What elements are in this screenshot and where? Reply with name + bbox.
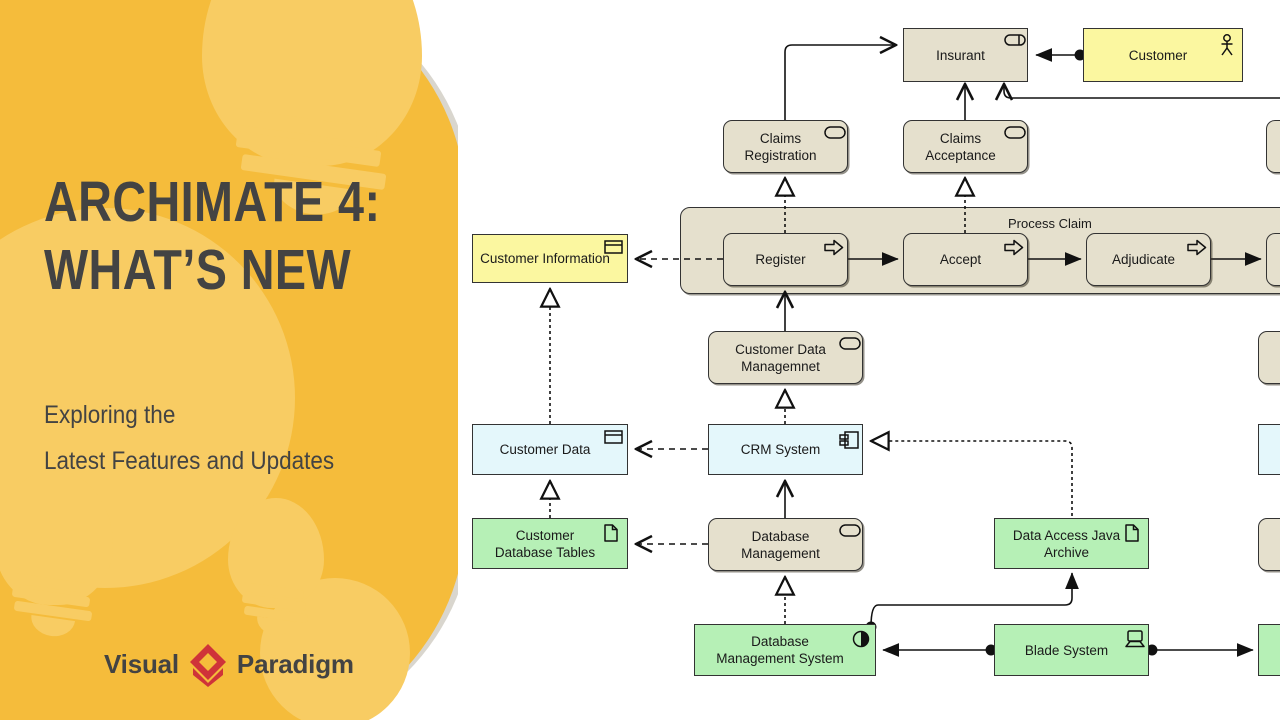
- node-icon: [852, 630, 870, 643]
- application-service-icon: [839, 337, 857, 350]
- node-label: Insurant: [936, 47, 985, 64]
- node-label: Customer Data Managemnet: [735, 341, 826, 375]
- cover-panel: ARCHIMATE 4: WHAT’S NEW Exploring the La…: [0, 0, 478, 720]
- slide-canvas: ARCHIMATE 4: WHAT’S NEW Exploring the La…: [0, 0, 1280, 720]
- diagram-node-customer[interactable]: Customer: [1083, 28, 1243, 82]
- diagram-node-clipped-proc[interactable]: [1266, 233, 1280, 286]
- business-actor-icon: [1219, 34, 1237, 47]
- logo-word-visual: Visual: [104, 649, 179, 680]
- archimate-diagram: Process Claim: [458, 0, 1280, 720]
- business-role-icon: [1004, 34, 1022, 47]
- diagram-node-cust-db-tables[interactable]: Customer Database Tables: [472, 518, 628, 569]
- node-label: Accept: [940, 251, 981, 268]
- cover-subtitle: Exploring the Latest Features and Update…: [44, 392, 422, 484]
- node-label: Blade System: [1025, 642, 1108, 659]
- diagram-node-claims-reg[interactable]: Claims Registration: [723, 120, 848, 173]
- relationship-layer: [458, 0, 1280, 720]
- technology-service-icon: [839, 524, 857, 537]
- business-process-icon: [1187, 239, 1205, 252]
- node-label: Customer Data: [500, 441, 591, 458]
- title-line-1: ARCHIMATE 4:: [44, 168, 372, 236]
- business-service-icon: [1004, 126, 1022, 139]
- diagram-node-crm-system[interactable]: CRM System: [708, 424, 863, 475]
- diagram-node-accept[interactable]: Accept: [903, 233, 1028, 286]
- diagram-node-app-clipped[interactable]: Ap: [1258, 624, 1280, 676]
- diagram-node-clipped-svc-1[interactable]: [1266, 120, 1280, 173]
- diagram-node-register[interactable]: Register: [723, 233, 848, 286]
- artifact-icon: [1125, 524, 1143, 537]
- logo-word-paradigm: Paradigm: [237, 649, 354, 680]
- diagram-node-claims-acc[interactable]: Claims Acceptance: [903, 120, 1028, 173]
- diagram-node-cust-info[interactable]: Customer Information: [472, 234, 628, 283]
- diagram-node-cust-data-mgmt[interactable]: Customer Data Managemnet: [708, 331, 863, 384]
- node-label: Database Management: [741, 528, 820, 562]
- diagram-node-cust-data[interactable]: Customer Data: [472, 424, 628, 475]
- diagram-node-clipped-svc-2[interactable]: [1258, 331, 1280, 384]
- node-label: Register: [755, 251, 805, 268]
- diagram-node-db-management[interactable]: Database Management: [708, 518, 863, 571]
- title-line-2: WHAT’S NEW: [44, 236, 372, 304]
- node-label: Data Access Java Archive: [1013, 527, 1120, 561]
- diamond-logo-icon: [185, 641, 231, 687]
- diagram-node-blade-system[interactable]: Blade System: [994, 624, 1149, 676]
- diagram-node-clipped-svc-3[interactable]: [1258, 518, 1280, 571]
- node-label: Adjudicate: [1112, 251, 1175, 268]
- device-icon: [1125, 630, 1143, 643]
- diagram-node-adjudicate[interactable]: Adjudicate: [1086, 233, 1211, 286]
- node-label: Customer Information: [480, 250, 610, 267]
- visual-paradigm-logo: Visual Paradigm: [104, 641, 354, 687]
- node-label: Claims Registration: [744, 130, 816, 164]
- business-object-icon: [604, 240, 622, 253]
- node-label: Customer Database Tables: [495, 527, 595, 561]
- node-label: Database Management System: [716, 633, 844, 667]
- business-process-icon: [1004, 239, 1022, 252]
- business-service-icon: [824, 126, 842, 139]
- application-component-icon: [839, 430, 857, 443]
- data-object-icon: [604, 430, 622, 443]
- cover-panel-fill: [0, 0, 466, 720]
- diagram-node-db-mgmt-system[interactable]: Database Management System: [694, 624, 876, 676]
- diagram-node-insurant[interactable]: Insurant: [903, 28, 1028, 82]
- cover-title-block: ARCHIMATE 4: WHAT’S NEW: [44, 168, 444, 304]
- artifact-icon: [604, 524, 622, 537]
- business-process-icon: [824, 239, 842, 252]
- diagram-node-data-access-jar[interactable]: Data Access Java Archive: [994, 518, 1149, 569]
- node-label: CRM System: [741, 441, 821, 458]
- node-label: Claims Acceptance: [925, 130, 996, 164]
- node-label: Customer: [1129, 47, 1188, 64]
- diagram-node-clipped-comp[interactable]: [1258, 424, 1280, 475]
